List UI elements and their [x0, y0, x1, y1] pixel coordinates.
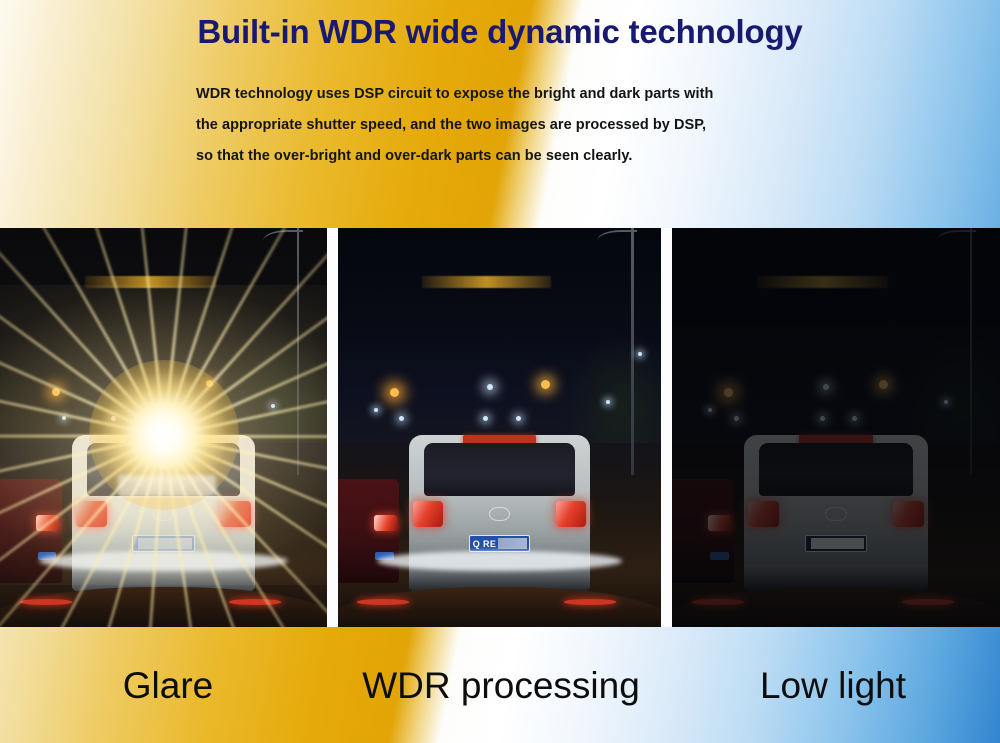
adjacent-red-car — [338, 479, 399, 583]
header-block: Built-in WDR wide dynamic technology WDR… — [0, 0, 1000, 172]
night-street-scene-wdr: Q RE — [338, 228, 661, 627]
caption-low-light: Low light — [666, 667, 1000, 704]
taillight-right — [556, 501, 587, 527]
photo-panel-lowlight — [672, 228, 1000, 627]
street-light-icon — [487, 384, 493, 390]
panel-divider — [327, 228, 338, 627]
caption-row: Glare WDR processing Low light — [0, 627, 1000, 743]
description-line-1: WDR technology uses DSP circuit to expos… — [196, 79, 1000, 110]
taillight-left — [413, 501, 444, 527]
license-plate: Q RE — [469, 535, 530, 552]
bumper-reflection — [377, 551, 622, 571]
description-paragraph: WDR technology uses DSP circuit to expos… — [0, 79, 1000, 172]
photo-panel-glare — [0, 228, 327, 627]
blown-out-plate-area — [118, 475, 216, 497]
photo-panel-wdr: Q RE — [338, 228, 661, 627]
street-light-icon — [390, 388, 399, 397]
red-car-taillight — [374, 515, 397, 532]
caption-wdr-processing: WDR processing — [336, 667, 666, 704]
license-plate-mask — [498, 538, 527, 549]
description-line-3: so that the over-bright and over-dark pa… — [196, 141, 1000, 172]
street-light-icon — [399, 416, 404, 421]
lowlight-darkening-veil — [672, 228, 1000, 627]
description-line-2: the appropriate shutter speed, and the t… — [196, 110, 1000, 141]
street-light-icon — [483, 416, 488, 421]
street-lamp-pole — [631, 228, 634, 475]
panel-divider — [661, 228, 672, 627]
overhead-sign-gantry — [422, 276, 551, 288]
car-brand-logo — [489, 507, 511, 521]
caption-glare: Glare — [0, 667, 336, 704]
license-plate-text: Q RE — [470, 539, 497, 549]
page-title: Built-in WDR wide dynamic technology — [0, 0, 1000, 51]
street-light-icon — [606, 400, 610, 404]
street-light-icon — [516, 416, 521, 421]
hood-reflection-right — [564, 599, 616, 605]
comparison-panel-strip: Q RE — [0, 228, 1000, 627]
street-light-icon — [374, 408, 378, 412]
rear-window — [424, 443, 576, 496]
